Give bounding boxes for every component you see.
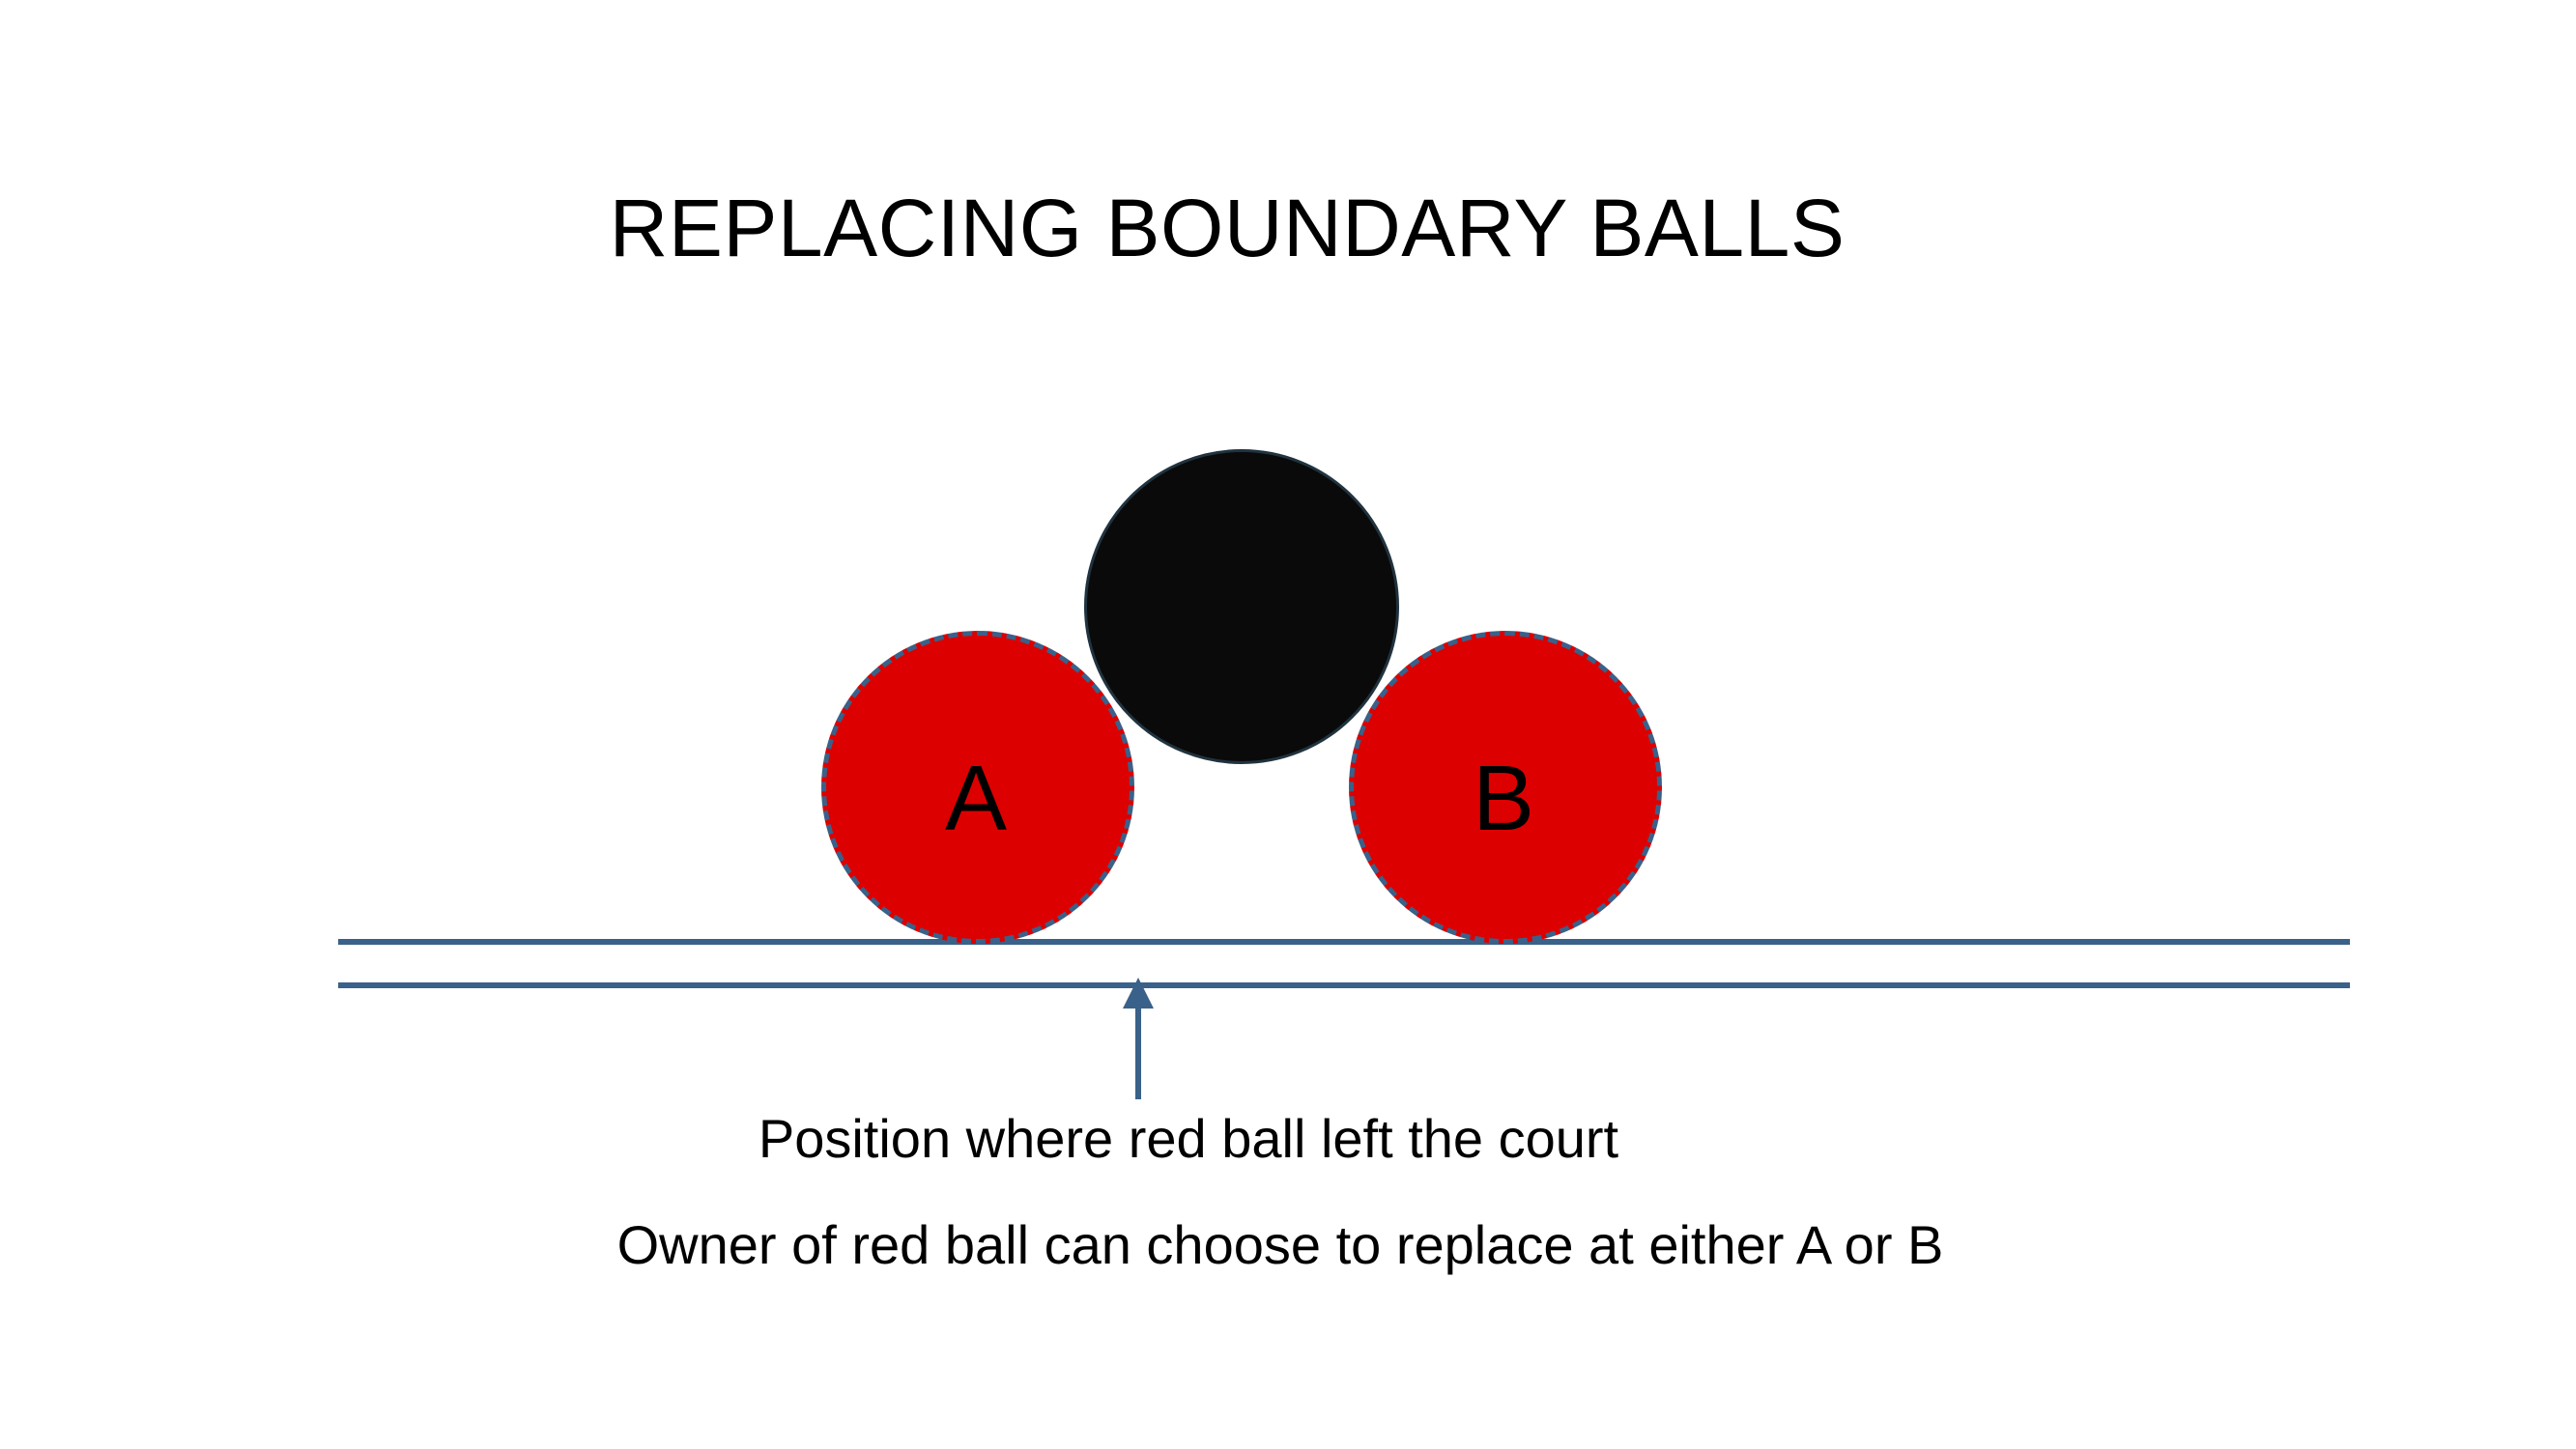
- ball-b-label: B: [1473, 753, 1534, 845]
- caption-position-note: Position where red ball left the court: [0, 1107, 2377, 1170]
- ball-a[interactable]: A: [821, 631, 1134, 944]
- ball-a-label: A: [945, 753, 1007, 845]
- black-ball[interactable]: [1084, 449, 1399, 764]
- slide-canvas: REPLACING BOUNDARY BALLS A B Position wh…: [0, 0, 2576, 1449]
- ball-b[interactable]: B: [1349, 631, 1662, 944]
- court-boundary-line-top: [338, 939, 2350, 945]
- caption-owner-note: Owner of red ball can choose to replace …: [0, 1213, 2561, 1276]
- up-arrow-icon: [1113, 974, 1163, 1099]
- court-boundary-line-bottom: [338, 982, 2350, 988]
- page-title: REPLACING BOUNDARY BALLS: [0, 182, 2454, 275]
